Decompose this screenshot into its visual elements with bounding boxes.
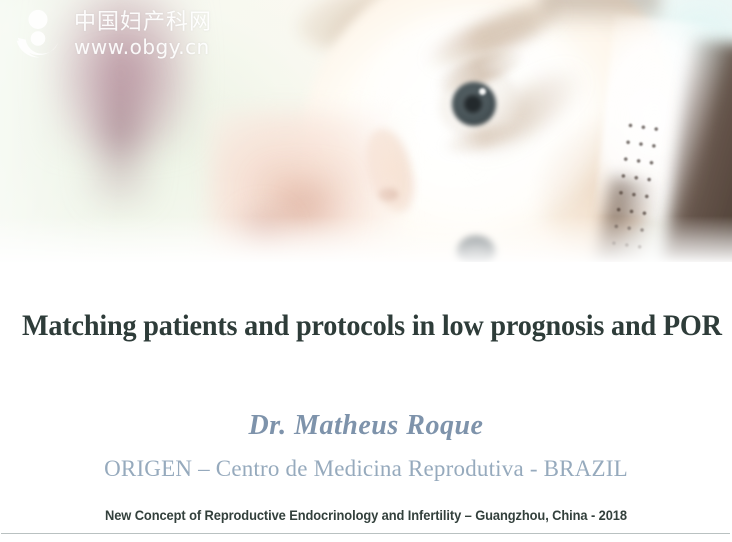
watermark-text: 中国妇产科网 www.obgy.cn <box>74 12 212 57</box>
photo-eye-glint <box>479 88 486 95</box>
footer-divider <box>1 533 730 534</box>
site-watermark: 中国妇产科网 www.obgy.cn <box>10 6 212 62</box>
baby-photo: 中国妇产科网 www.obgy.cn <box>0 0 732 262</box>
photo-bottom-fade <box>0 216 732 262</box>
slide-text-area: Matching patients and protocols in low p… <box>0 262 732 542</box>
presenter-name: Dr. Matheus Roque <box>0 410 732 442</box>
watermark-site-url: www.obgy.cn <box>74 37 212 57</box>
presenter-affiliation: ORIGEN – Centro de Medicina Reprodutiva … <box>0 456 732 482</box>
watermark-site-name: 中国妇产科网 <box>74 12 212 34</box>
presentation-slide: 中国妇产科网 www.obgy.cn Matching patients and… <box>0 0 732 542</box>
photo-pupil <box>464 95 482 113</box>
mother-and-child-logo-icon <box>10 6 66 62</box>
slide-title: Matching patients and protocols in low p… <box>22 310 710 342</box>
conference-footer: New Concept of Reproductive Endocrinolog… <box>29 507 702 523</box>
